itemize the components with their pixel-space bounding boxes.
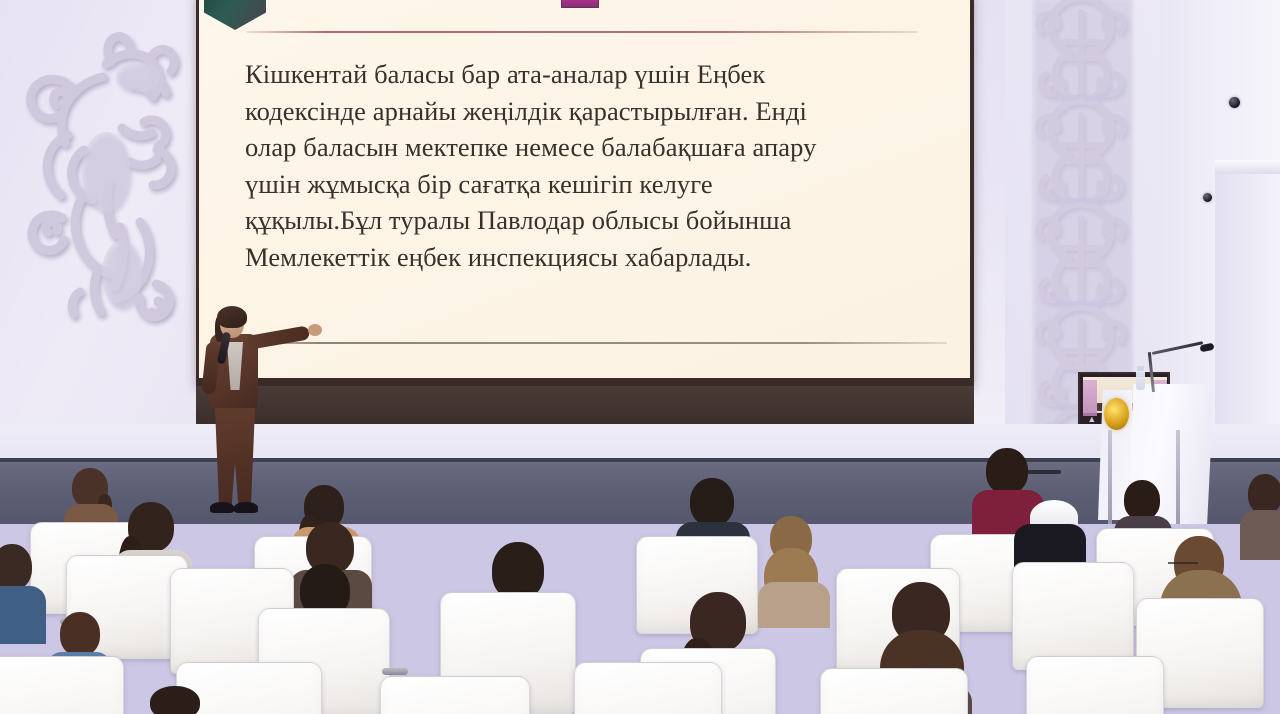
pip-up-icon[interactable]: ▲ (1087, 415, 1096, 424)
wall-ledge (1215, 160, 1280, 174)
water-bottle-cap (1137, 366, 1144, 371)
chair-armrest (382, 668, 408, 675)
slide-text-block: Кішкентай баласы бар ата-аналар үшін Еңб… (245, 56, 935, 275)
slide-line: үшін жұмысқа бір сағатқа кешігіп келуге (245, 166, 935, 203)
slide-accent-tab (561, 0, 599, 8)
slide-bottom-rule (247, 342, 947, 344)
lectern-emblem-icon (1104, 398, 1129, 430)
chair[interactable] (1026, 656, 1164, 714)
chair[interactable] (380, 676, 530, 714)
slide-line: Кішкентай баласы бар ата-аналар үшін Еңб… (245, 56, 935, 93)
slide-top-rule (247, 31, 917, 33)
screenshot-root: Кішкентай баласы бар ата-аналар үшін Еңб… (0, 0, 1280, 714)
slide-line: құқылы.Бұл туралы Павлодар облысы бойынш… (245, 202, 935, 239)
pip-curtain-left (1083, 380, 1097, 416)
eyeglasses-icon (1168, 562, 1198, 567)
presenter-hair (217, 306, 247, 328)
slide-line: олар баласын мектепке немесе балабақшаға… (245, 129, 935, 166)
slide-line: Мемлекеттік еңбек инспекциясы хабарлады. (245, 239, 935, 276)
chair[interactable] (1012, 562, 1134, 670)
slide-line: кодексінде арнайы жеңілдік қарастырылған… (245, 93, 935, 130)
snow-leopard-relief-icon (10, 22, 195, 322)
presenter-hand (308, 324, 322, 336)
presenter-arm-right (247, 325, 310, 350)
chair[interactable] (0, 656, 124, 714)
slide-pennant-decoration (204, 0, 266, 30)
water-bottle (1136, 370, 1145, 390)
security-camera-icon (1229, 97, 1240, 108)
audience-area (0, 440, 1280, 714)
chair[interactable] (574, 662, 722, 714)
wall-sensor-icon (1203, 193, 1212, 202)
chair[interactable] (820, 668, 968, 714)
